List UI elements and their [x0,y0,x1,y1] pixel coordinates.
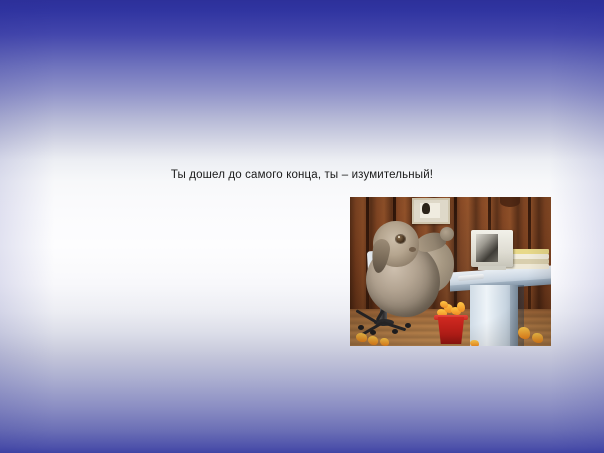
rabbit-at-computer-photo [350,197,551,346]
chair-caster-4 [392,329,398,334]
framed-picture [412,198,450,224]
snack-4 [457,302,465,312]
wall-seam-3 [454,197,457,313]
chair-caster-1 [405,323,411,328]
wall-object-shadow [500,197,520,207]
presentation-slide: Ты дошел до самого конца, ты – изумитель… [0,0,604,453]
rabbit-nose [409,247,416,252]
monitor-screen [476,234,498,262]
picture-figure [422,203,430,214]
chair-caster-3 [370,330,376,335]
rabbit-paw [440,227,454,241]
monitor-base [478,266,506,270]
floor-snack-4 [518,327,530,339]
snack-5 [440,301,448,308]
floor-snack-2 [368,336,378,345]
floor-snack-1 [356,333,367,342]
slide-caption-text: Ты дошел до самого конца, ты – изумитель… [0,168,604,182]
floor-snack-5 [532,333,543,343]
floor-snack-6 [470,340,479,346]
red-bucket [436,317,466,344]
floor-snack-3 [380,338,389,346]
rabbit-ear-top [385,217,401,237]
rabbit-eye-highlight [398,236,400,238]
chair-caster-2 [358,325,364,330]
